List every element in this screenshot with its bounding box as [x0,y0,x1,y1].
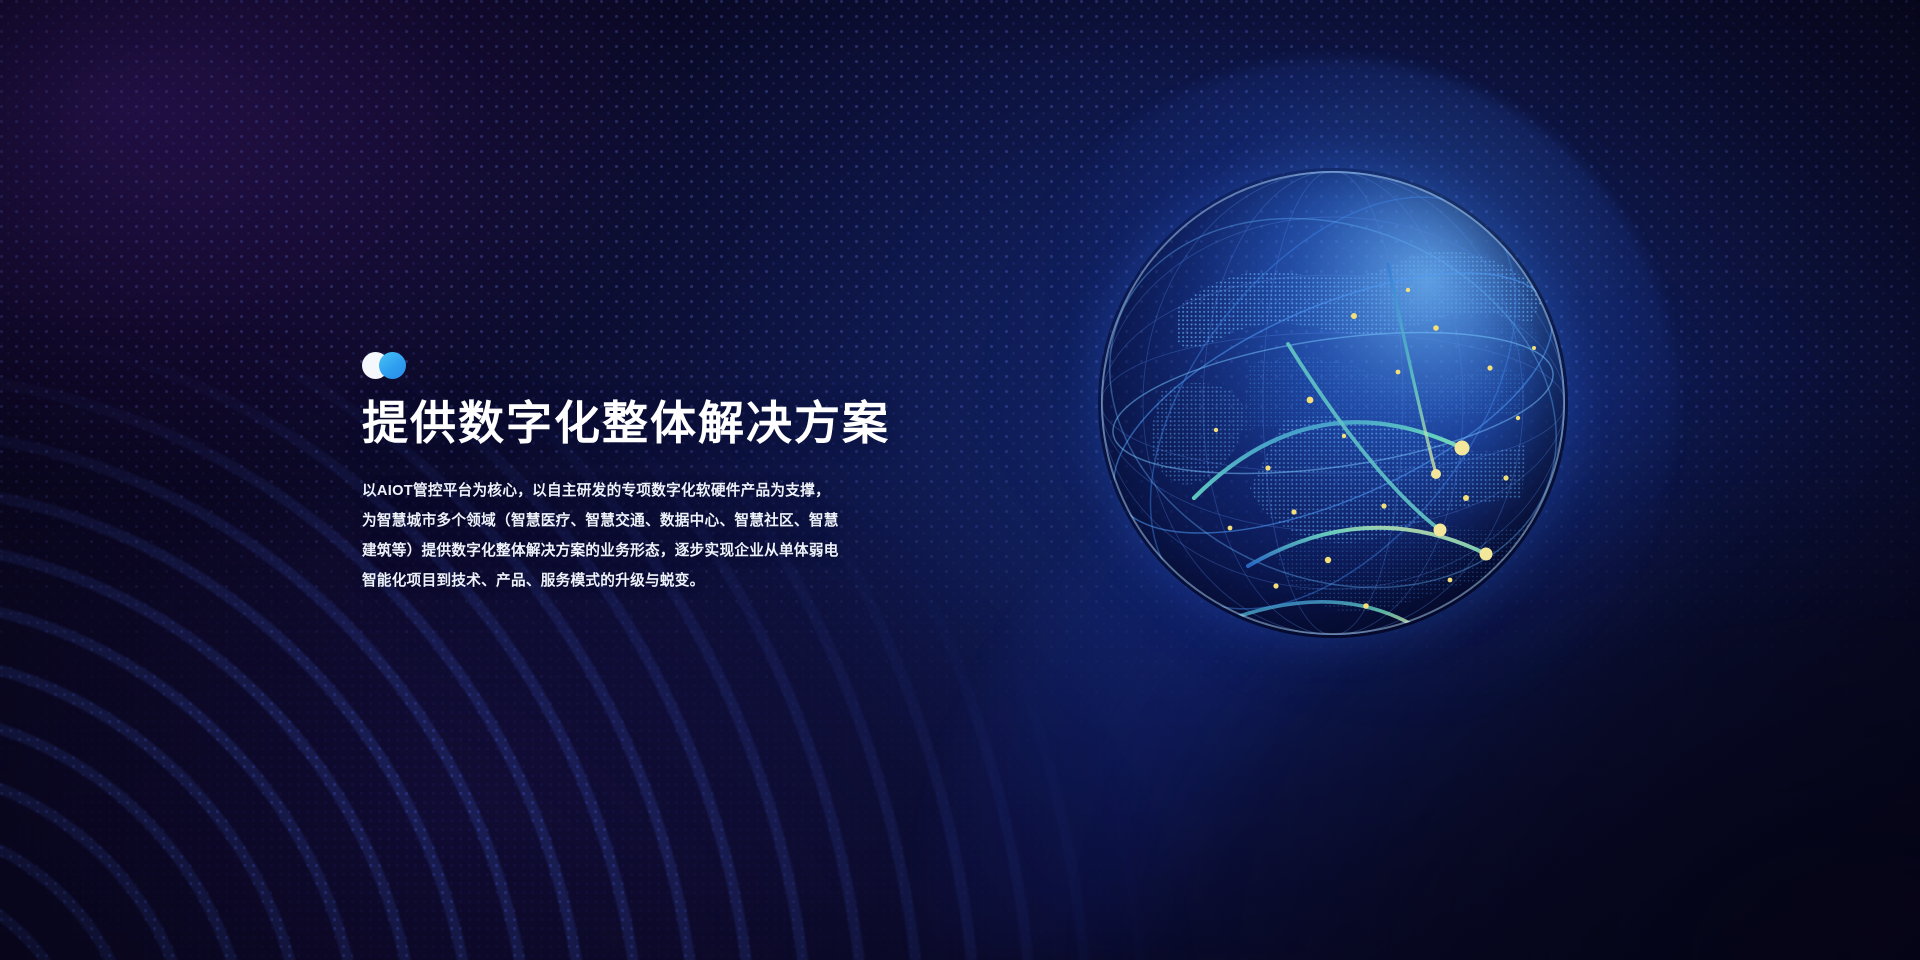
hero-copy: 提供数字化整体解决方案 以AIOT管控平台为核心，以自主研发的专项数字化软硬件产… [362,352,962,596]
brand-logo-mark [362,352,422,380]
hero-banner: 提供数字化整体解决方案 以AIOT管控平台为核心，以自主研发的专项数字化软硬件产… [0,0,1920,960]
logo-circle-blue-icon [379,352,406,379]
globe-land-dots [1098,168,1568,638]
network-globe-illustration [1098,168,1568,638]
page-title: 提供数字化整体解决方案 [362,398,962,450]
hero-description: 以AIOT管控平台为核心，以自主研发的专项数字化软硬件产品为支撑，为智慧城市多个… [362,476,840,596]
